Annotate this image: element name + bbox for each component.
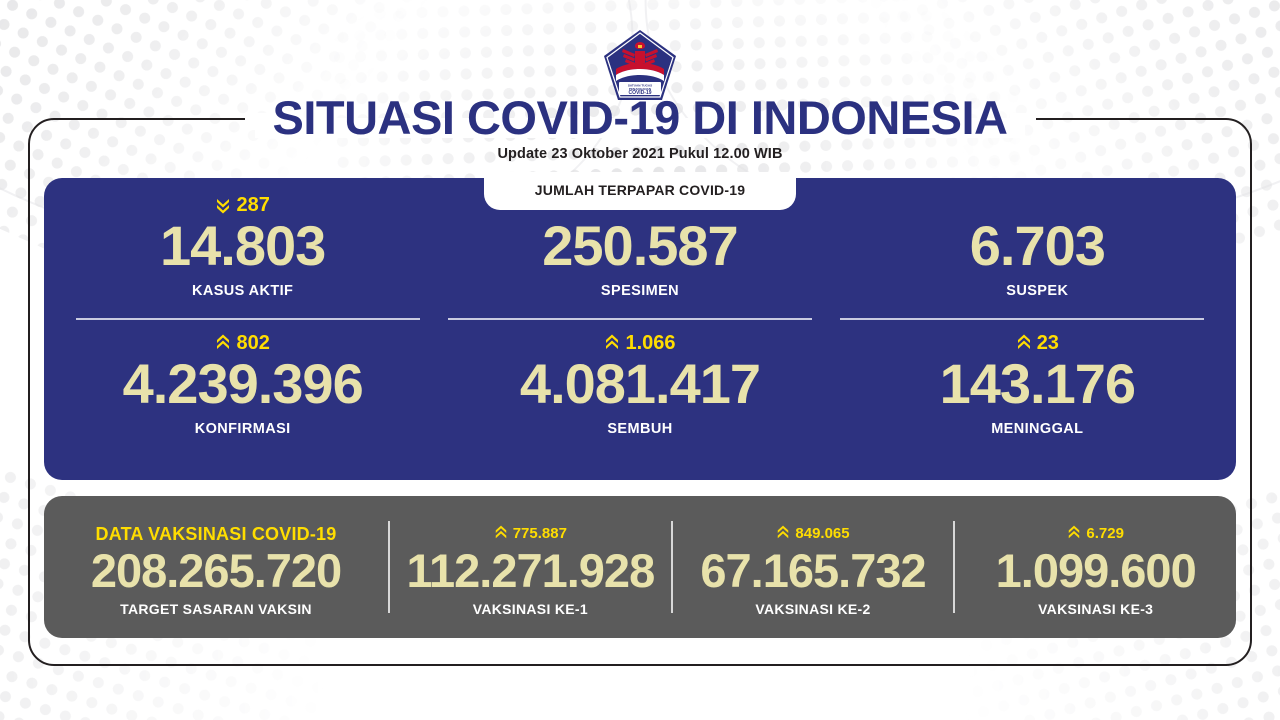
label-vaksinasi-ke-1: VAKSINASI KE-1 [473,601,588,617]
stat-meninggal: 23 143.176 MENINGGAL [839,330,1236,468]
delta-value: 287 [236,194,269,216]
value-meninggal: 143.176 [940,356,1135,412]
vaccination-dose-3: 6.729 1.099.600 VAKSINASI KE-3 [955,496,1236,638]
vaccination-target: DATA VAKSINASI COVID-19 208.265.720 TARG… [44,496,388,638]
label-meninggal: MENINGGAL [991,421,1083,437]
page-title: SITUASI COVID-19 DI INDONESIA [247,92,1034,144]
chevron-up-icon [1067,525,1083,543]
divider-segment-3 [840,318,1204,320]
label-sembuh: SEMBUH [607,421,672,437]
vaccination-dose-1: 775.887 112.271.928 VAKSINASI KE-1 [390,496,671,638]
chevron-up-icon [1016,334,1032,352]
divider-segment-2 [448,318,812,320]
label-konfirmasi: KONFIRMASI [195,421,291,437]
delta-value: 1.066 [625,332,675,354]
vaccination-dose-2: 849.065 67.165.732 VAKSINASI KE-2 [673,496,954,638]
stat-kasus-aktif: 287 14.803 KASUS AKTIF [44,192,441,326]
cases-panel-divider [44,318,1236,320]
value-vaksinasi-ke-1: 112.271.928 [406,547,654,594]
label-suspek: SUSPEK [1006,283,1068,299]
stat-sembuh: 1.066 4.081.417 SEMBUH [441,330,838,468]
label-spesimen: SPESIMEN [601,283,679,299]
chevron-down-icon [215,196,231,214]
chevron-up-icon [494,525,510,543]
label-kasus-aktif: KASUS AKTIF [192,283,293,299]
chevron-up-icon [776,525,792,543]
title-block: SITUASI COVID-19 DI INDONESIA Update 23 … [0,92,1280,162]
chevron-up-icon [604,334,620,352]
terpapar-badge-label: JUMLAH TERPAPAR COVID-19 [535,182,745,198]
cases-row-bottom: 802 4.239.396 KONFIRMASI 1.066 4.081.417… [44,330,1236,468]
delta-value: 802 [236,332,269,354]
label-vaksinasi-ke-2: VAKSINASI KE-2 [755,601,870,617]
update-timestamp: Update 23 Oktober 2021 Pukul 12.00 WIB [0,146,1280,162]
delta-value: 23 [1037,332,1059,354]
cases-panel: 287 14.803 KASUS AKTIF 250.587 SPESIMEN … [44,178,1236,480]
value-vaksinasi-ke-3: 1.099.600 [996,547,1196,594]
value-vaksinasi-ke-2: 67.165.732 [700,547,925,594]
label-vaksinasi-ke-3: VAKSINASI KE-3 [1038,601,1153,617]
value-target-sasaran: 208.265.720 [91,547,341,594]
chevron-up-icon [215,334,231,352]
stat-spesimen: 250.587 SPESIMEN [441,192,838,326]
divider-segment-1 [76,318,420,320]
value-sembuh: 4.081.417 [520,356,760,412]
vaccination-panel: DATA VAKSINASI COVID-19 208.265.720 TARG… [44,496,1236,638]
cases-row-top: 287 14.803 KASUS AKTIF 250.587 SPESIMEN … [44,192,1236,326]
stat-suspek: 6.703 SUSPEK [839,192,1236,326]
value-suspek: 6.703 [970,218,1105,274]
value-kasus-aktif: 14.803 [160,218,325,274]
value-spesimen: 250.587 [542,218,737,274]
label-target-sasaran: TARGET SASARAN VAKSIN [120,601,312,617]
value-konfirmasi: 4.239.396 [123,356,363,412]
stat-konfirmasi: 802 4.239.396 KONFIRMASI [44,330,441,468]
